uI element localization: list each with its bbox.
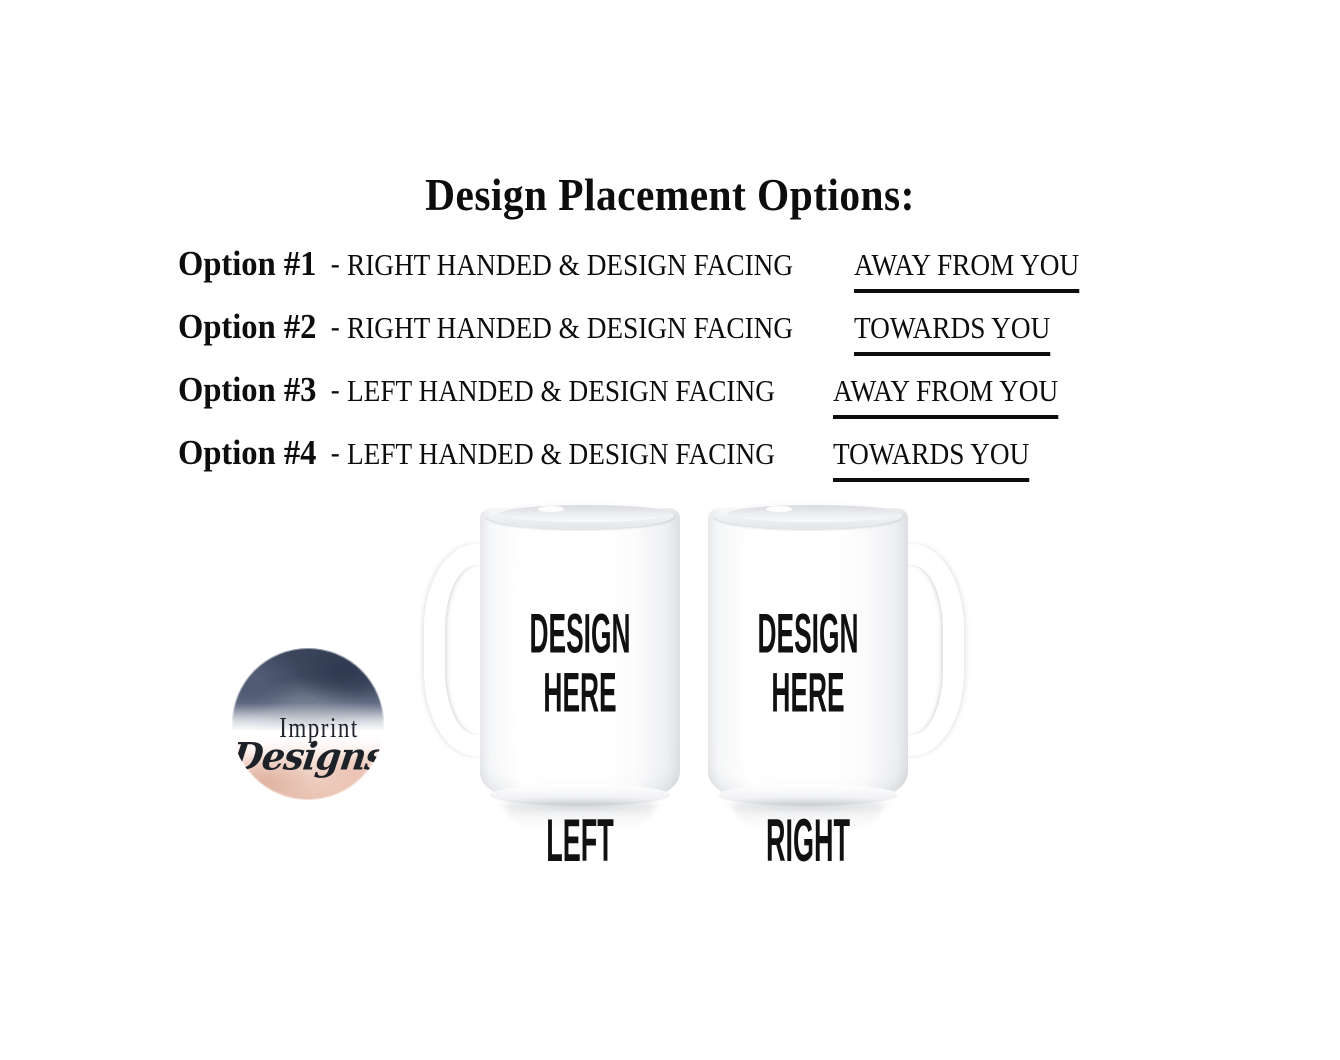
mug-right-rim-inner: [728, 505, 900, 522]
mug-left-print-line2: HERE: [524, 663, 636, 722]
mug-right-rim-highlight: [766, 506, 792, 512]
mug-left-rim-highlight: [538, 506, 564, 512]
mug-left-caption: LEFT: [526, 808, 634, 873]
mug-right-caption: RIGHT: [754, 808, 862, 873]
mug-right: DESIGN HERE RIGHT: [708, 508, 908, 800]
mug-right-print: DESIGN HERE: [752, 604, 864, 722]
mug-group: DESIGN HERE LEFT DESIGN HERE RIGHT: [0, 0, 1340, 1060]
brand-logo: Imprint Designs: [232, 648, 384, 800]
mug-left-print: DESIGN HERE: [524, 604, 636, 722]
mug-right-print-line1: DESIGN: [752, 604, 864, 663]
mug-left-rim: [486, 503, 674, 529]
mug-left: DESIGN HERE LEFT: [480, 508, 680, 800]
mug-left-print-line1: DESIGN: [524, 604, 636, 663]
mug-left-rim-inner: [500, 505, 672, 522]
mug-right-rim: [714, 503, 902, 529]
mug-right-print-line2: HERE: [752, 663, 864, 722]
logo-word-designs: Designs: [232, 735, 384, 779]
poster-canvas: Design Placement Options: Option #1 - RI…: [0, 0, 1340, 1060]
